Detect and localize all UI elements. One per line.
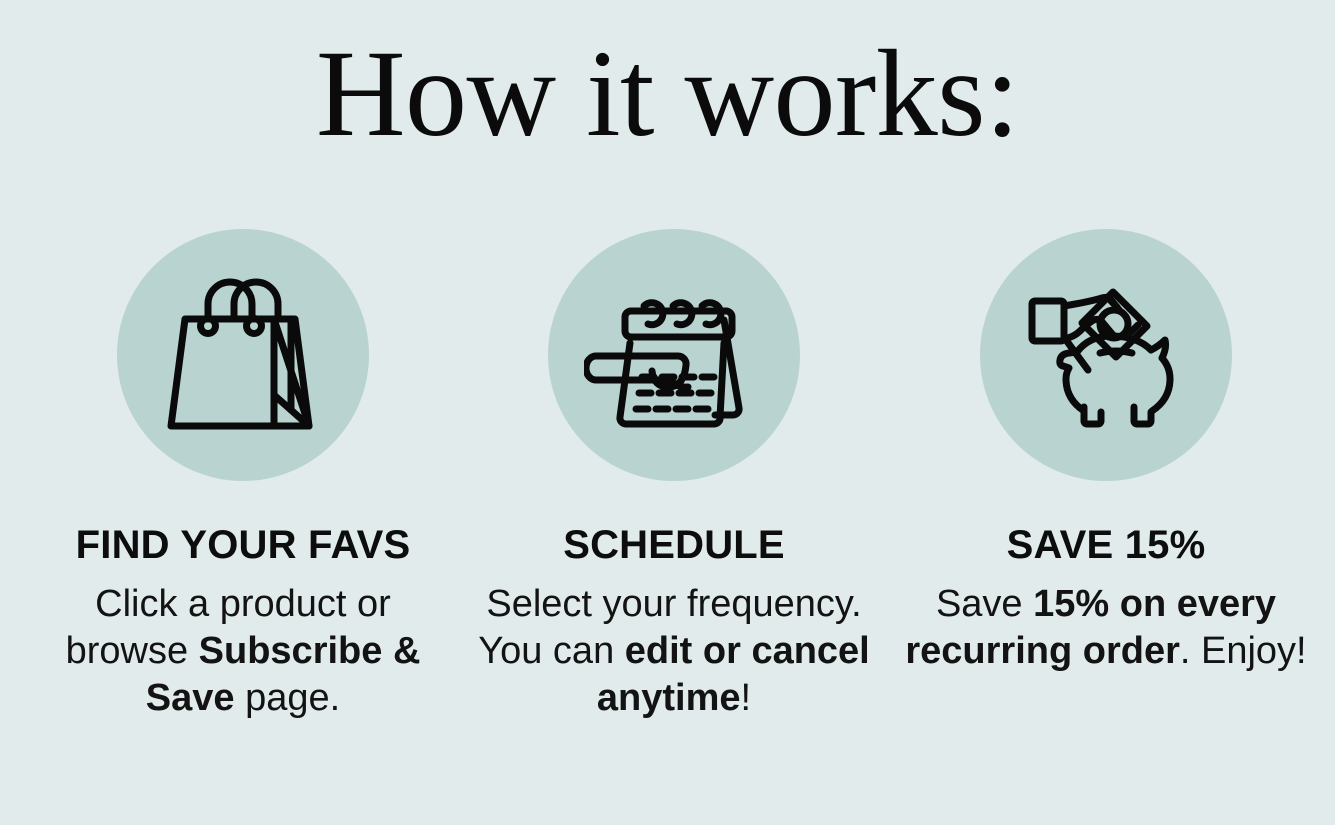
step-body-1: Click a product or browse Subscribe & Sa…	[43, 581, 443, 722]
shopping-bag-icon	[153, 265, 333, 445]
calendar-icon	[584, 265, 764, 445]
piggy-bank-hand-icon	[1016, 265, 1196, 445]
step-card-find-your-favs: FIND YOUR FAVS Click a product or browse…	[28, 220, 458, 722]
step-icon-circle-2	[548, 229, 800, 481]
step-card-save-15: SAVE 15% Save 15% on every recurring ord…	[891, 220, 1321, 675]
step-body-2-part-3: !	[741, 677, 752, 719]
step-card-schedule: SCHEDULE Select your frequency. You can …	[464, 220, 884, 722]
step-body-3: Save 15% on every recurring order. Enjoy…	[901, 581, 1311, 675]
step-body-2: Select your frequency. You can edit or c…	[474, 581, 874, 722]
step-heading-1: FIND YOUR FAVS	[76, 523, 411, 567]
page-title: How it works:	[0, 32, 1335, 156]
step-body-3-part-1: Save	[936, 583, 1033, 625]
step-icon-circle-1	[117, 229, 369, 481]
step-body-2-part-2: edit or cancel anytime	[597, 630, 870, 719]
step-heading-2: SCHEDULE	[563, 523, 785, 567]
step-body-3-part-3: . Enjoy!	[1180, 630, 1307, 672]
step-icon-circle-3	[980, 229, 1232, 481]
steps-row: FIND YOUR FAVS Click a product or browse…	[0, 220, 1335, 722]
how-it-works-section: How it works:	[0, 0, 1335, 825]
step-heading-3: SAVE 15%	[1007, 523, 1206, 567]
step-body-1-part-3: page.	[235, 677, 341, 719]
